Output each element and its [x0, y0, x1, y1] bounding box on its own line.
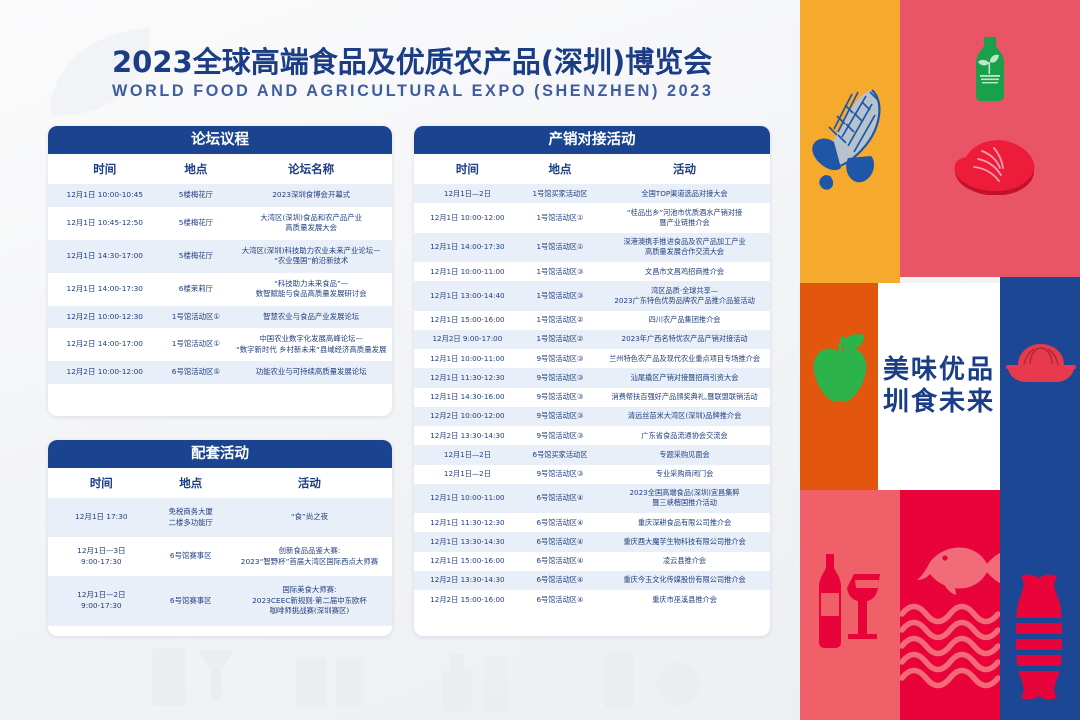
cell-activity: 全国TOP渠道选品对接大会 [599, 184, 770, 203]
table-row: 12月1日—2日6号馆买家活动区专题采购见面会 [414, 445, 770, 464]
table-header-row: 时间 地点 论坛名称 [48, 154, 392, 184]
cell-activity: 2023全国高端食品(深圳)宜昌集粹暨三峡楷国推介活动 [599, 484, 770, 513]
corn-icon [812, 82, 890, 192]
color-block-orange [800, 283, 878, 490]
forum-agenda-table: 时间 地点 论坛名称 12月1日 10:00-10:455楼梅花厅2023深圳食… [48, 154, 392, 384]
table-row: 12月1日 13:00-14:401号馆活动区③湾区品质·全球共享—2023广东… [414, 281, 770, 310]
table-row: 12月2日 10:00-12:301号馆活动区①智慧农业与食品产业发展论坛 [48, 306, 392, 329]
color-block-blue [1000, 277, 1080, 720]
cell-time: 12月1日 14:00-17:30 [48, 273, 162, 306]
cell-place: 1号馆活动区② [521, 330, 599, 349]
cell-activity: 清远丝苗米大湾区(深圳)品牌推介会 [599, 407, 770, 426]
supporting-activities-heading: 配套活动 [48, 440, 392, 468]
cell-place: 1号馆活动区① [162, 306, 231, 329]
cell-place: 9号馆活动区③ [521, 465, 599, 484]
cell-forum-name: “科技助力未来食品”—数智赋能与食品高质量发展研讨会 [230, 273, 392, 306]
cell-place: 5楼梅花厅 [162, 240, 231, 273]
column-header-place: 地点 [521, 154, 599, 184]
cell-time: 12月1日—2日9:00-17:30 [48, 576, 155, 626]
page-title-en: WORLD FOOD AND AGRICULTURAL EXPO (SHENZH… [112, 82, 772, 101]
cell-activity: 深港澳携手推进食品及农产品加工产业高质量发展合作交流大会 [599, 233, 770, 262]
supporting-activities-table: 时间 地点 活动 12月1日 17:30免税商务大厦二楼多功能厅“食”尚之夜12… [48, 468, 392, 626]
cell-time: 12月1日 10:00-10:45 [48, 184, 162, 207]
table-header-row: 时间 地点 活动 [414, 154, 770, 184]
forum-agenda-body: 12月1日 10:00-10:455楼梅花厅2023深圳食博会开幕式12月1日 … [48, 184, 392, 384]
production-marketing-table: 时间 地点 活动 12月1日—2日1号馆买家活动区全国TOP渠道选品对接大会12… [414, 154, 770, 609]
table-row: 12月1日 15:00-16:006号馆活动区④凌云县推介会 [414, 552, 770, 571]
cell-place: 6号馆活动区④ [521, 532, 599, 551]
steak-icon [948, 135, 1038, 195]
cell-place: 6号馆买家活动区 [521, 445, 599, 464]
table-row: 12月2日 13:30-14:309号馆活动区③广东省食品流通协会交流会 [414, 426, 770, 445]
cell-forum-name: 大湾区(深圳)食品和农产品产业高质量发展大会 [230, 207, 392, 240]
table-row: 12月2日 10:00-12:009号馆活动区③清远丝苗米大湾区(深圳)品牌推介… [414, 407, 770, 426]
cell-place: 1号馆活动区③ [521, 281, 599, 310]
cell-activity: 国际美食大师赛:2023CEEC新规则·第二届中东欧杯咖啡师挑战赛(深圳赛区) [227, 576, 392, 626]
table-row: 12月2日 14:00-17:001号馆活动区①中国农业数字化发展高峰论坛—“数… [48, 328, 392, 361]
supporting-activities-body: 12月1日 17:30免税商务大厦二楼多功能厅“食”尚之夜12月1日—3日9:0… [48, 498, 392, 626]
column-header-activity: 活动 [227, 468, 392, 498]
cell-time: 12月1日 13:00-14:40 [414, 281, 521, 310]
color-block-red [900, 490, 1000, 720]
table-row: 12月1日 10:00-11:009号馆活动区③兰州特色农产品及现代农业重点项目… [414, 349, 770, 368]
cell-time: 12月1日 14:30-17:00 [48, 240, 162, 273]
cell-activity: 消费帮扶百强好产品颁奖典礼,暨联盟联销活动 [599, 388, 770, 407]
cell-forum-name: 功能农业与可持续高质量发展论坛 [230, 361, 392, 384]
cell-activity: 专题采购见面会 [599, 445, 770, 464]
cell-time: 12月1日 11:30-12:30 [414, 513, 521, 532]
table-row: 12月1日 15:00-16:001号馆活动区②四川农产品集团推介会 [414, 311, 770, 330]
cell-place: 6号馆活动区⑤ [162, 361, 231, 384]
cell-time: 12月1日 15:00-16:00 [414, 311, 521, 330]
slogan-line-1: 美味优品 [883, 355, 995, 387]
color-block-salmon [800, 490, 900, 720]
cell-time: 12月1日—2日 [414, 465, 521, 484]
cell-time: 12月2日 13:30-14:30 [414, 426, 521, 445]
cell-place: 6号馆活动区④ [521, 513, 599, 532]
cell-time: 12月1日 10:00-11:00 [414, 262, 521, 281]
slogan-line-2: 圳食未来 [883, 387, 995, 419]
forum-agenda-card: 论坛议程 时间 地点 论坛名称 12月1日 10:00-10:455楼梅花厅20… [48, 126, 392, 416]
table-row: 12月1日 13:30-14:306号馆活动区④重庆酉大魔芋生物科技有限公司推介… [414, 532, 770, 551]
cell-activity: 汕尾撬区产销对接暨招商引资大会 [599, 368, 770, 387]
table-row: 12月1日 10:00-11:006号馆活动区④2023全国高端食品(深圳)宜昌… [414, 484, 770, 513]
title-block: 2023全球高端食品及优质农产品(深圳)博览会 WORLD FOOD AND A… [112, 46, 772, 101]
cell-activity: 湾区品质·全球共享—2023广东特色优势品牌农产品推介品鉴活动 [599, 281, 770, 310]
milk-bottle-icon [970, 35, 1010, 103]
cell-time: 12月1日 10:00-11:00 [414, 484, 521, 513]
cell-time: 12月1日 10:00-12:00 [414, 203, 521, 232]
cell-time: 12月1日 13:30-14:30 [414, 532, 521, 551]
page-title-cn: 2023全球高端食品及优质农产品(深圳)博览会 [112, 46, 772, 78]
cell-place: 6号馆活动区④ [521, 484, 599, 513]
cell-time: 12月1日—2日 [414, 445, 521, 464]
production-marketing-heading: 产销对接活动 [414, 126, 770, 154]
cell-place: 9号馆活动区③ [521, 426, 599, 445]
cell-activity: 四川农产品集团推介会 [599, 311, 770, 330]
cell-place: 6号馆活动区④ [521, 552, 599, 571]
cell-activity: 重庆市巫溪县推介会 [599, 590, 770, 609]
table-row: 12月1日 14:30-16:009号馆活动区③消费帮扶百强好产品颁奖典礼,暨联… [414, 388, 770, 407]
table-row: 12月2日 15:00-16:006号馆活动区④重庆市巫溪县推介会 [414, 590, 770, 609]
cell-time: 12月1日 14:30-16:00 [414, 388, 521, 407]
cell-activity: 广东省食品流通协会交流会 [599, 426, 770, 445]
fish-waves-icon [900, 530, 1000, 710]
color-block-yellow [800, 0, 900, 283]
column-header-time: 时间 [48, 154, 162, 184]
cell-time: 12月2日 9:00-17:00 [414, 330, 521, 349]
column-header-place: 地点 [155, 468, 227, 498]
table-row: 12月1日—2日9:00-17:306号馆赛事区国际美食大师赛:2023CEEC… [48, 576, 392, 626]
table-row: 12月1日 17:30免税商务大厦二楼多功能厅“食”尚之夜 [48, 498, 392, 537]
cell-activity: 创新食品品鉴大赛:2023“智野杯”首届大湾区国际西点大师赛 [227, 537, 392, 576]
cell-activity: 文昌市文昌鸡招商推介会 [599, 262, 770, 281]
slogan-text: 美味优品 圳食未来 [883, 355, 995, 418]
cell-forum-name: 2023深圳食博会开幕式 [230, 184, 392, 207]
cell-time: 12月1日 14:00-17:30 [414, 233, 521, 262]
cell-place: 6号馆赛事区 [155, 576, 227, 626]
cell-place: 6号馆活动区④ [521, 571, 599, 590]
cell-time: 12月2日 15:00-16:00 [414, 590, 521, 609]
column-header-activity: 活动 [599, 154, 770, 184]
slogan-block: 美味优品 圳食未来 [878, 283, 1000, 490]
cell-time: 12月1日 10:00-11:00 [414, 349, 521, 368]
cell-forum-name: 大湾区(深圳)科技助力农业未来产业论坛—“农业强国”前沿新技术 [230, 240, 392, 273]
cell-activity: 重庆今玉文化传媒股份有限公司推介会 [599, 571, 770, 590]
cell-place: 1号馆活动区① [521, 233, 599, 262]
poster-canvas: 2023全球高端食品及优质农产品(深圳)博览会 WORLD FOOD AND A… [0, 0, 1080, 720]
cell-time: 12月2日 10:00-12:00 [48, 361, 162, 384]
table-header-row: 时间 地点 活动 [48, 468, 392, 498]
cell-place: 免税商务大厦二楼多功能厅 [155, 498, 227, 537]
production-marketing-card: 产销对接活动 时间 地点 活动 12月1日—2日1号馆买家活动区全国TOP渠道选… [414, 126, 770, 636]
table-row: 12月1日 10:00-11:001号馆活动区③文昌市文昌鸡招商推介会 [414, 262, 770, 281]
column-header-place: 地点 [162, 154, 231, 184]
cell-place: 9号馆活动区③ [521, 388, 599, 407]
table-row: 12月1日 14:30-17:005楼梅花厅大湾区(深圳)科技助力农业未来产业论… [48, 240, 392, 273]
cell-place: 5楼梅花厅 [162, 207, 231, 240]
table-row: 12月1日 10:00-10:455楼梅花厅2023深圳食博会开幕式 [48, 184, 392, 207]
cell-time: 12月2日 13:30-14:30 [414, 571, 521, 590]
candy-icon [1012, 572, 1066, 702]
column-header-time: 时间 [48, 468, 155, 498]
table-row: 12月1日 10:45-12:505楼梅花厅大湾区(深圳)食品和农产品产业高质量… [48, 207, 392, 240]
cell-activity: 2023年广西名特优农产品产销对接活动 [599, 330, 770, 349]
cell-place: 5楼梅花厅 [162, 184, 231, 207]
column-header-forum-name: 论坛名称 [230, 154, 392, 184]
cell-place: 6号馆赛事区 [155, 537, 227, 576]
cell-time: 12月2日 10:00-12:00 [414, 407, 521, 426]
color-block-pink [900, 0, 1080, 277]
wine-bottle-glass-icon [816, 552, 884, 652]
table-row: 12月1日—3日9:00-17:306号馆赛事区创新食品品鉴大赛:2023“智野… [48, 537, 392, 576]
table-row: 12月2日 9:00-17:001号馆活动区②2023年广西名特优农产品产销对接… [414, 330, 770, 349]
cell-activity: 重庆深耕食品有限公司推介会 [599, 513, 770, 532]
cell-time: 12月1日—2日 [414, 184, 521, 203]
production-marketing-body: 12月1日—2日1号馆买家活动区全国TOP渠道选品对接大会12月1日 10:00… [414, 184, 770, 609]
table-row: 12月1日 14:00-17:301号馆活动区①深港澳携手推进食品及农产品加工产… [414, 233, 770, 262]
cell-time: 12月2日 14:00-17:00 [48, 328, 162, 361]
column-header-time: 时间 [414, 154, 521, 184]
forum-agenda-heading: 论坛议程 [48, 126, 392, 154]
cell-time: 12月1日 11:30-12:30 [414, 368, 521, 387]
cell-place: 1号馆买家活动区 [521, 184, 599, 203]
content-column: 2023全球高端食品及优质农产品(深圳)博览会 WORLD FOOD AND A… [0, 0, 800, 720]
cell-place: 9号馆活动区③ [521, 407, 599, 426]
cell-activity: 兰州特色农产品及现代农业重点项目专场推介会 [599, 349, 770, 368]
table-row: 12月1日 10:00-12:001号馆活动区①“桂品出乡”河池市优质酒水产销对… [414, 203, 770, 232]
cell-forum-name: 中国农业数字化发展高峰论坛—“数字新时代 乡村新未来”县域经济高质量发展 [230, 328, 392, 361]
cell-activity: 专业采购商闭门会 [599, 465, 770, 484]
decorative-panel: 美味优品 圳食未来 [800, 0, 1080, 720]
cell-place: 1号馆活动区③ [521, 262, 599, 281]
cell-place: 1号馆活动区② [521, 311, 599, 330]
cell-place: 9号馆活动区③ [521, 349, 599, 368]
supporting-activities-card: 配套活动 时间 地点 活动 12月1日 17:30免税商务大厦二楼多功能厅“食”… [48, 440, 392, 636]
cell-time: 12月1日 17:30 [48, 498, 155, 537]
food-bowl-icon [1006, 339, 1076, 389]
cell-place: 9号馆活动区③ [521, 368, 599, 387]
cell-forum-name: 智慧农业与食品产业发展论坛 [230, 306, 392, 329]
cell-time: 12月2日 10:00-12:30 [48, 306, 162, 329]
cell-activity: “食”尚之夜 [227, 498, 392, 537]
table-row: 12月2日 13:30-14:306号馆活动区④重庆今玉文化传媒股份有限公司推介… [414, 571, 770, 590]
table-row: 12月1日—2日9号馆活动区③专业采购商闭门会 [414, 465, 770, 484]
cell-place: 1号馆活动区① [521, 203, 599, 232]
table-row: 12月1日—2日1号馆买家活动区全国TOP渠道选品对接大会 [414, 184, 770, 203]
table-row: 12月1日 14:00-17:306楼茉莉厅“科技助力未来食品”—数智赋能与食品… [48, 273, 392, 306]
cell-time: 12月1日—3日9:00-17:30 [48, 537, 155, 576]
cell-place: 6号馆活动区④ [521, 590, 599, 609]
table-row: 12月1日 11:30-12:306号馆活动区④重庆深耕食品有限公司推介会 [414, 513, 770, 532]
cell-activity: 凌云县推介会 [599, 552, 770, 571]
cell-time: 12月1日 10:45-12:50 [48, 207, 162, 240]
cell-place: 1号馆活动区① [162, 328, 231, 361]
apple-icon [810, 333, 870, 405]
cell-place: 6楼茉莉厅 [162, 273, 231, 306]
table-row: 12月2日 10:00-12:006号馆活动区⑤功能农业与可持续高质量发展论坛 [48, 361, 392, 384]
cell-time: 12月1日 15:00-16:00 [414, 552, 521, 571]
cell-activity: “桂品出乡”河池市优质酒水产销对接暨产业链推介会 [599, 203, 770, 232]
table-row: 12月1日 11:30-12:309号馆活动区③汕尾撬区产销对接暨招商引资大会 [414, 368, 770, 387]
cell-activity: 重庆酉大魔芋生物科技有限公司推介会 [599, 532, 770, 551]
